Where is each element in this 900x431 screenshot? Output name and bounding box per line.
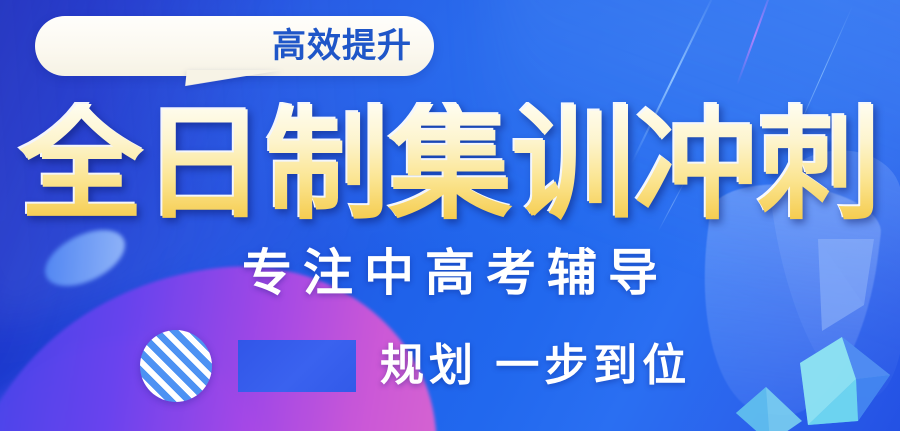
promo-banner: 高效提升 全日制集训冲刺 专注中高考辅导 规划 一步到位 <box>0 0 900 431</box>
speech-bubble: 高效提升 <box>35 16 434 76</box>
striped-circle-icon <box>140 330 212 402</box>
speech-bubble-text: 高效提升 <box>272 29 412 63</box>
crystal-polygon-small-icon <box>722 377 812 431</box>
accent-block <box>238 340 356 392</box>
bottom-slogan-row: 规划 一步到位 <box>140 330 700 402</box>
subtitle-text: 专注中高考辅导 <box>0 248 900 298</box>
slogan-text: 规划 一步到位 <box>380 344 691 388</box>
headline-title: 全日制集训冲刺 <box>0 104 900 228</box>
speech-bubble-tail-icon <box>185 70 283 86</box>
